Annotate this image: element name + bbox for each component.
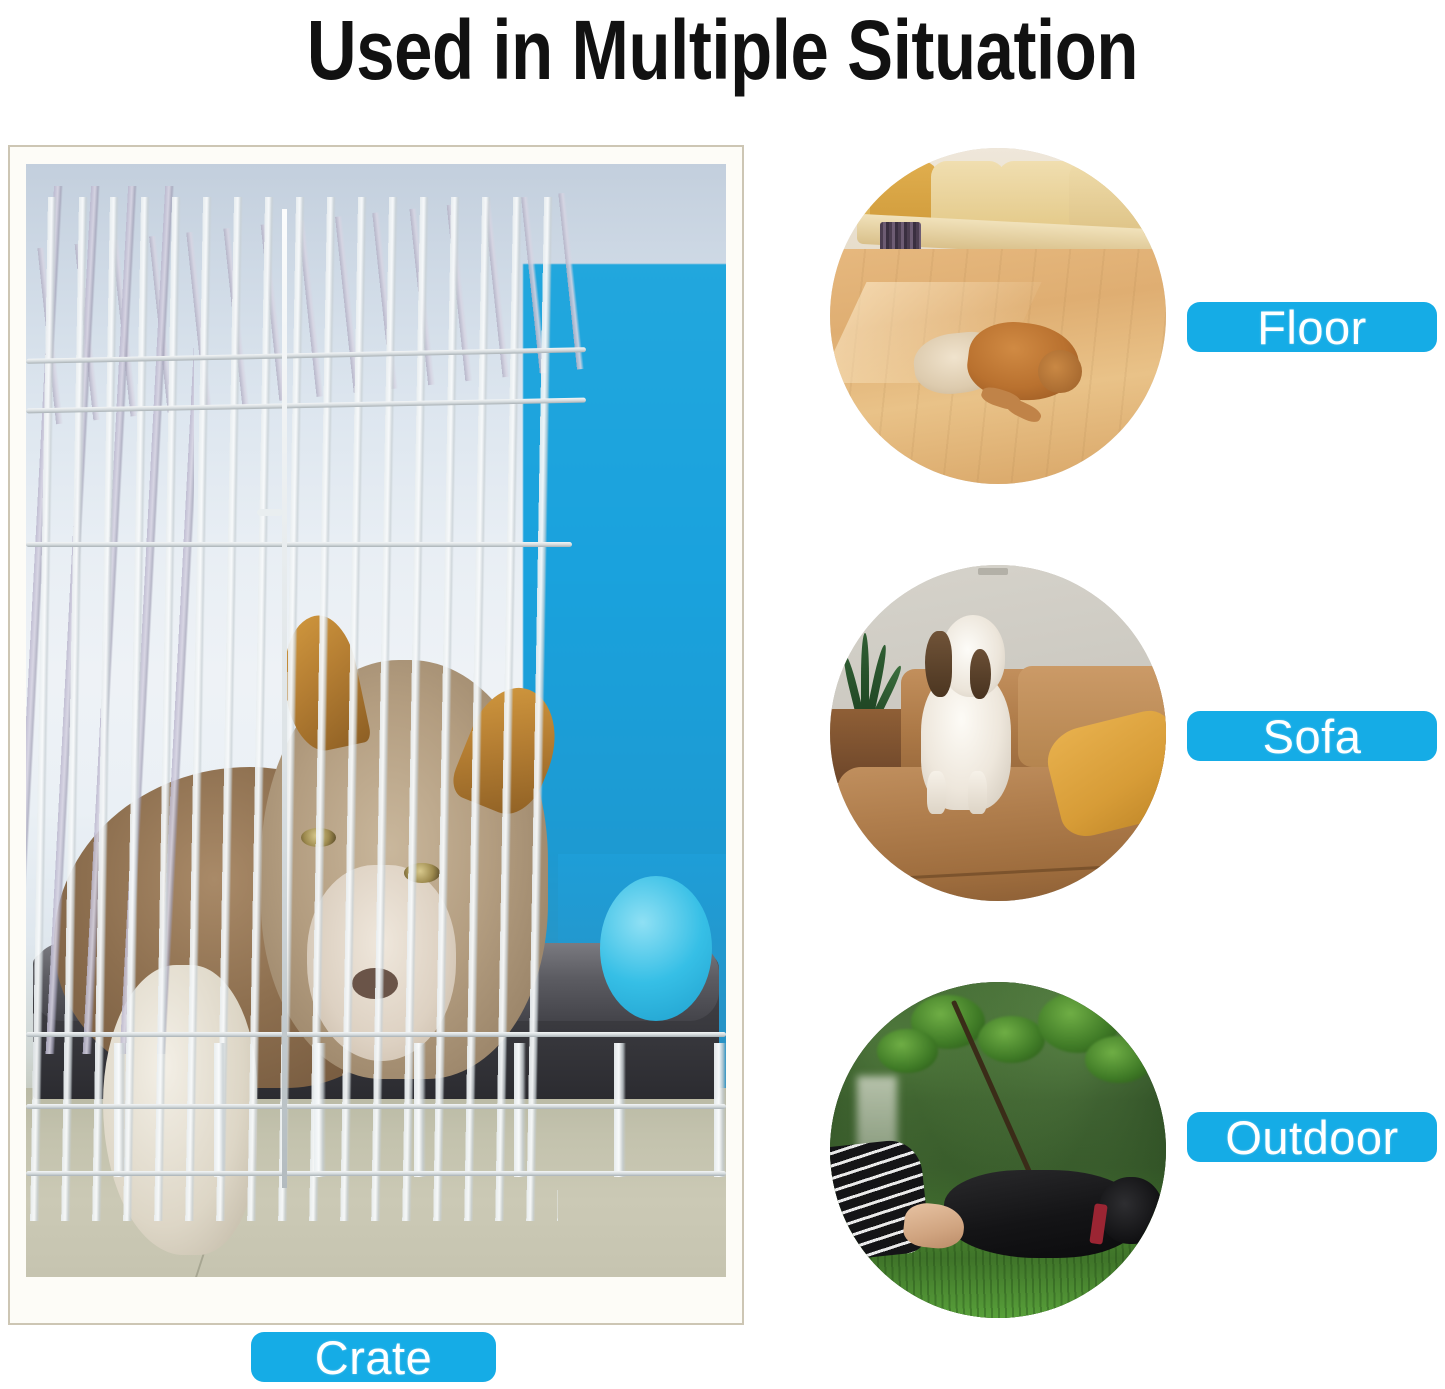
label-badge-floor: Floor xyxy=(1187,302,1437,352)
sofa-scene-dog xyxy=(917,615,1014,810)
sofa-dog-leg xyxy=(927,771,946,814)
outdoor-scene xyxy=(830,982,1166,1318)
sofa-scene-seam xyxy=(837,863,1166,884)
cage-lower-rail-wires xyxy=(26,1043,726,1177)
label-badge-sofa: Sofa xyxy=(1187,711,1437,761)
floor-scene-cushion xyxy=(1069,161,1156,235)
crate-photo xyxy=(26,164,726,1277)
situation-photo-outdoor xyxy=(830,982,1166,1318)
sofa-dog-ear-left xyxy=(925,631,952,697)
crate-photo-frame xyxy=(8,145,744,1325)
sofa-dog-leg xyxy=(968,771,987,814)
blue-ball-toy xyxy=(600,876,712,1021)
label-badge-crate: Crate xyxy=(251,1332,496,1382)
outdoor-scene-leaves xyxy=(877,1029,937,1073)
cage-horizontal-wire xyxy=(26,542,572,547)
outdoor-scene-leaves xyxy=(978,1016,1045,1063)
cage-horizontal-wire xyxy=(26,1171,726,1176)
outdoor-scene-dog-head xyxy=(1099,1177,1163,1244)
cage-door-frame xyxy=(282,209,287,1188)
label-badge-outdoor: Outdoor xyxy=(1187,1112,1437,1162)
cage-horizontal-wire xyxy=(26,1104,726,1109)
outdoor-scene-leaves xyxy=(1085,1036,1152,1083)
floor-scene xyxy=(830,148,1166,484)
cage-horizontal-wire xyxy=(26,1032,726,1037)
sofa-scene-wall-vent xyxy=(978,568,1008,575)
cage-latch xyxy=(257,509,283,516)
page-title: Used in Multiple Situation xyxy=(130,0,1315,106)
floor-scene-dog-head xyxy=(1038,350,1082,394)
situation-photo-floor xyxy=(830,148,1166,484)
situation-photo-sofa xyxy=(830,565,1166,901)
sofa-scene xyxy=(830,565,1166,901)
